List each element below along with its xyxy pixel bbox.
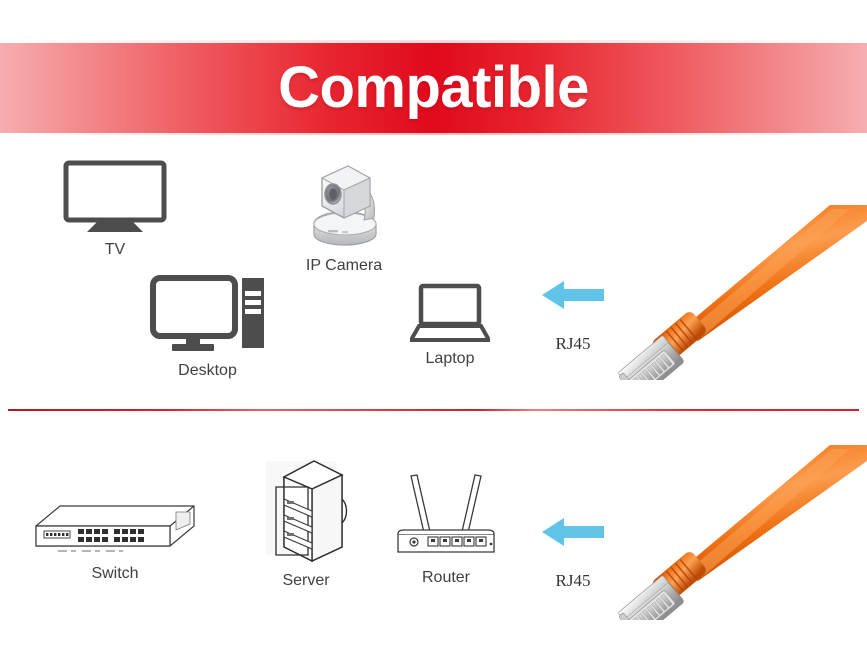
device-label: Router xyxy=(390,569,502,587)
ethernet-cable-icon xyxy=(618,185,867,380)
network-switch-icon xyxy=(30,490,200,558)
header-banner: Compatible xyxy=(0,43,867,133)
device-label: Switch xyxy=(25,565,205,583)
ethernet-cable-bottom xyxy=(618,425,867,625)
device-server: Server xyxy=(258,455,354,590)
laptop-icon xyxy=(410,283,490,343)
arrow-left-icon xyxy=(540,515,606,549)
connector-rj45-bottom: RJ45 xyxy=(528,515,618,591)
ethernet-cable-top xyxy=(618,185,867,385)
server-rack-icon xyxy=(262,455,350,565)
device-label: Laptop xyxy=(400,350,500,368)
compatibility-infographic: Compatible TV xyxy=(0,0,867,650)
wireless-router-icon xyxy=(392,460,500,562)
device-switch: Switch xyxy=(25,490,205,583)
device-label: IP Camera xyxy=(288,257,400,275)
device-tv: TV xyxy=(50,160,180,259)
connector-label: RJ45 xyxy=(528,334,618,354)
ethernet-cable-icon xyxy=(618,425,867,620)
device-label: TV xyxy=(50,241,180,259)
device-label: Server xyxy=(258,572,354,590)
arrow-left-icon xyxy=(540,278,606,312)
device-label: Desktop xyxy=(140,362,275,380)
ip-camera-icon xyxy=(300,158,388,250)
connector-rj45-top: RJ45 xyxy=(528,278,618,354)
page-title: Compatible xyxy=(278,59,589,117)
tv-icon xyxy=(63,160,167,234)
section-divider xyxy=(8,409,859,411)
device-router: Router xyxy=(390,460,502,587)
device-laptop: Laptop xyxy=(400,283,500,368)
desktop-computer-icon xyxy=(150,275,266,355)
device-desktop: Desktop xyxy=(140,275,275,380)
connector-label: RJ45 xyxy=(528,571,618,591)
device-ip-camera: IP Camera xyxy=(288,158,400,275)
